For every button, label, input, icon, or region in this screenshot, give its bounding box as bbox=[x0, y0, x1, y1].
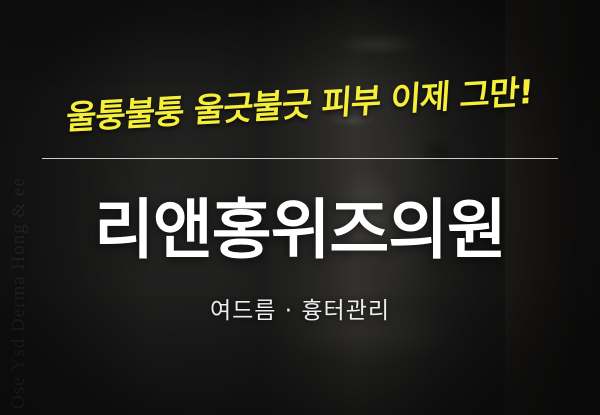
poster-image: Ose Ysd Derma Hong & ee 울퉁불퉁 울긋불긋 피부 이제 … bbox=[0, 0, 600, 415]
divider-rule bbox=[42, 158, 558, 159]
services-subtitle: 여드름 · 흉터관리 bbox=[210, 291, 390, 325]
text-lockup: 울퉁불퉁 울긋불긋 피부 이제 그만! 리앤홍위즈의원 여드름 · 흉터관리 bbox=[0, 0, 600, 415]
clinic-name-title: 리앤홍위즈의원 bbox=[94, 177, 506, 271]
headline-text: 울퉁불퉁 울긋불긋 피부 이제 그만! bbox=[65, 65, 535, 139]
